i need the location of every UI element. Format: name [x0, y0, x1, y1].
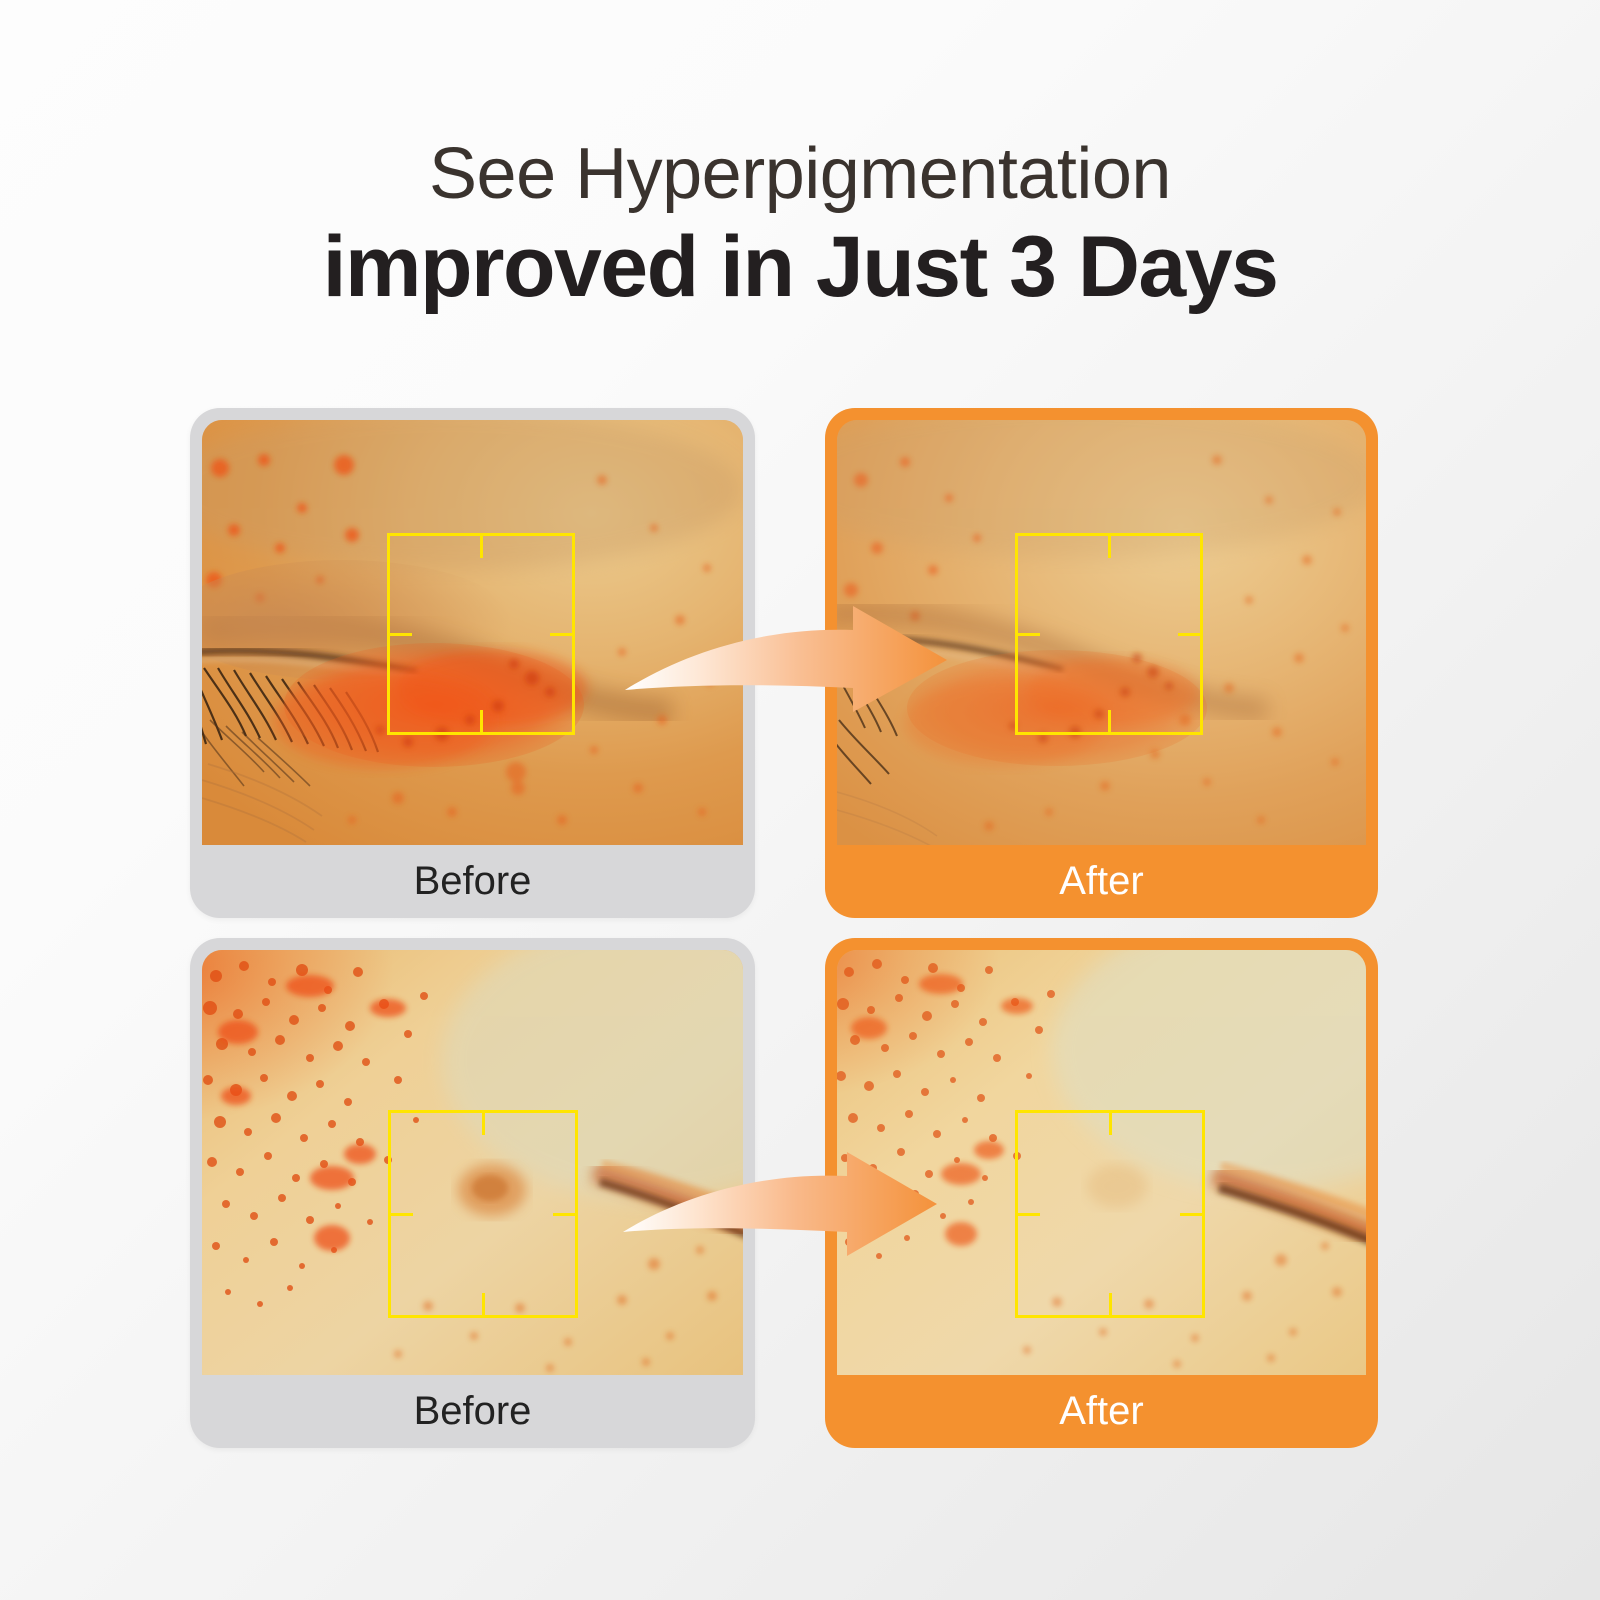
- comparison-grid: Before: [0, 0, 1600, 1600]
- caption-before-row1: Before: [202, 845, 743, 917]
- curved-arrow-right-icon: [615, 600, 955, 730]
- caption-before-row2: Before: [202, 1375, 743, 1447]
- caption-after-row1: After: [837, 845, 1366, 917]
- caption-after-row2: After: [837, 1375, 1366, 1447]
- curved-arrow-right-icon: [615, 1140, 945, 1270]
- focus-reticle-icon: [1015, 533, 1203, 735]
- focus-reticle-icon: [387, 533, 575, 735]
- focus-reticle-icon: [388, 1110, 578, 1318]
- promo-comparison-page: See Hyperpigmentation improved in Just 3…: [0, 0, 1600, 1600]
- focus-reticle-icon: [1015, 1110, 1205, 1318]
